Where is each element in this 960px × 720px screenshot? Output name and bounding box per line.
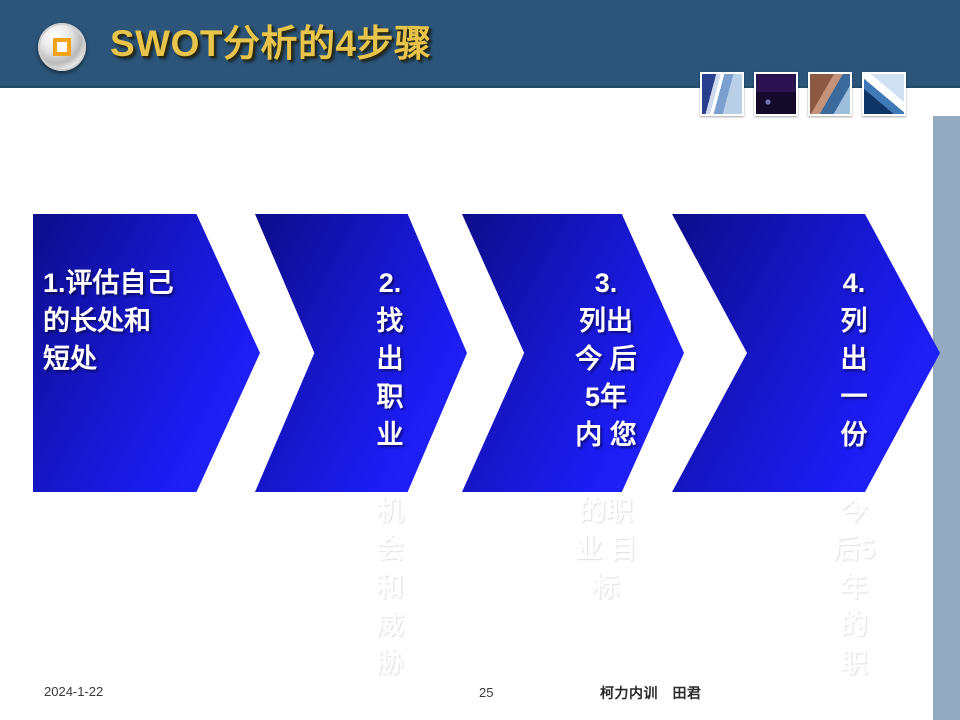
slide-canvas: SWOT分析的4步骤 1.评估自己 的长处和 短处 2. 找 出 职 业 机 会…: [0, 0, 960, 720]
process-step-4-overflow-label: 今 后5 年 的 职: [672, 492, 940, 682]
footer-page-number: 25: [479, 685, 493, 700]
process-step-2: 2. 找 出 职 业 机 会 和 威 胁: [255, 214, 467, 492]
process-step-3-overflow-label: 的职 业 目 标: [462, 492, 684, 606]
process-step-2-label: 2. 找 出 职 业: [255, 214, 467, 454]
process-step-1: 1.评估自己 的长处和 短处: [33, 214, 260, 492]
process-step-3: 3. 列出 今 后 5年 内 您 的职 业 目 标: [462, 214, 684, 492]
process-step-3-label: 3. 列出 今 后 5年 内 您: [462, 214, 684, 454]
footer-date: 2024-1-22: [44, 684, 103, 699]
process-step-4: 4. 列 出 一 份 今 后5 年 的 职: [672, 214, 940, 492]
process-step-2-overflow-label: 机 会 和 威 胁: [255, 492, 467, 682]
process-step-1-label: 1.评估自己 的长处和 短处: [33, 214, 260, 378]
process-flow-diagram: 1.评估自己 的长处和 短处 2. 找 出 职 业 机 会 和 威 胁 3. 列…: [0, 0, 960, 720]
process-step-4-label: 4. 列 出 一 份: [672, 214, 940, 454]
footer-credit: 柯力内训 田君: [600, 683, 702, 703]
